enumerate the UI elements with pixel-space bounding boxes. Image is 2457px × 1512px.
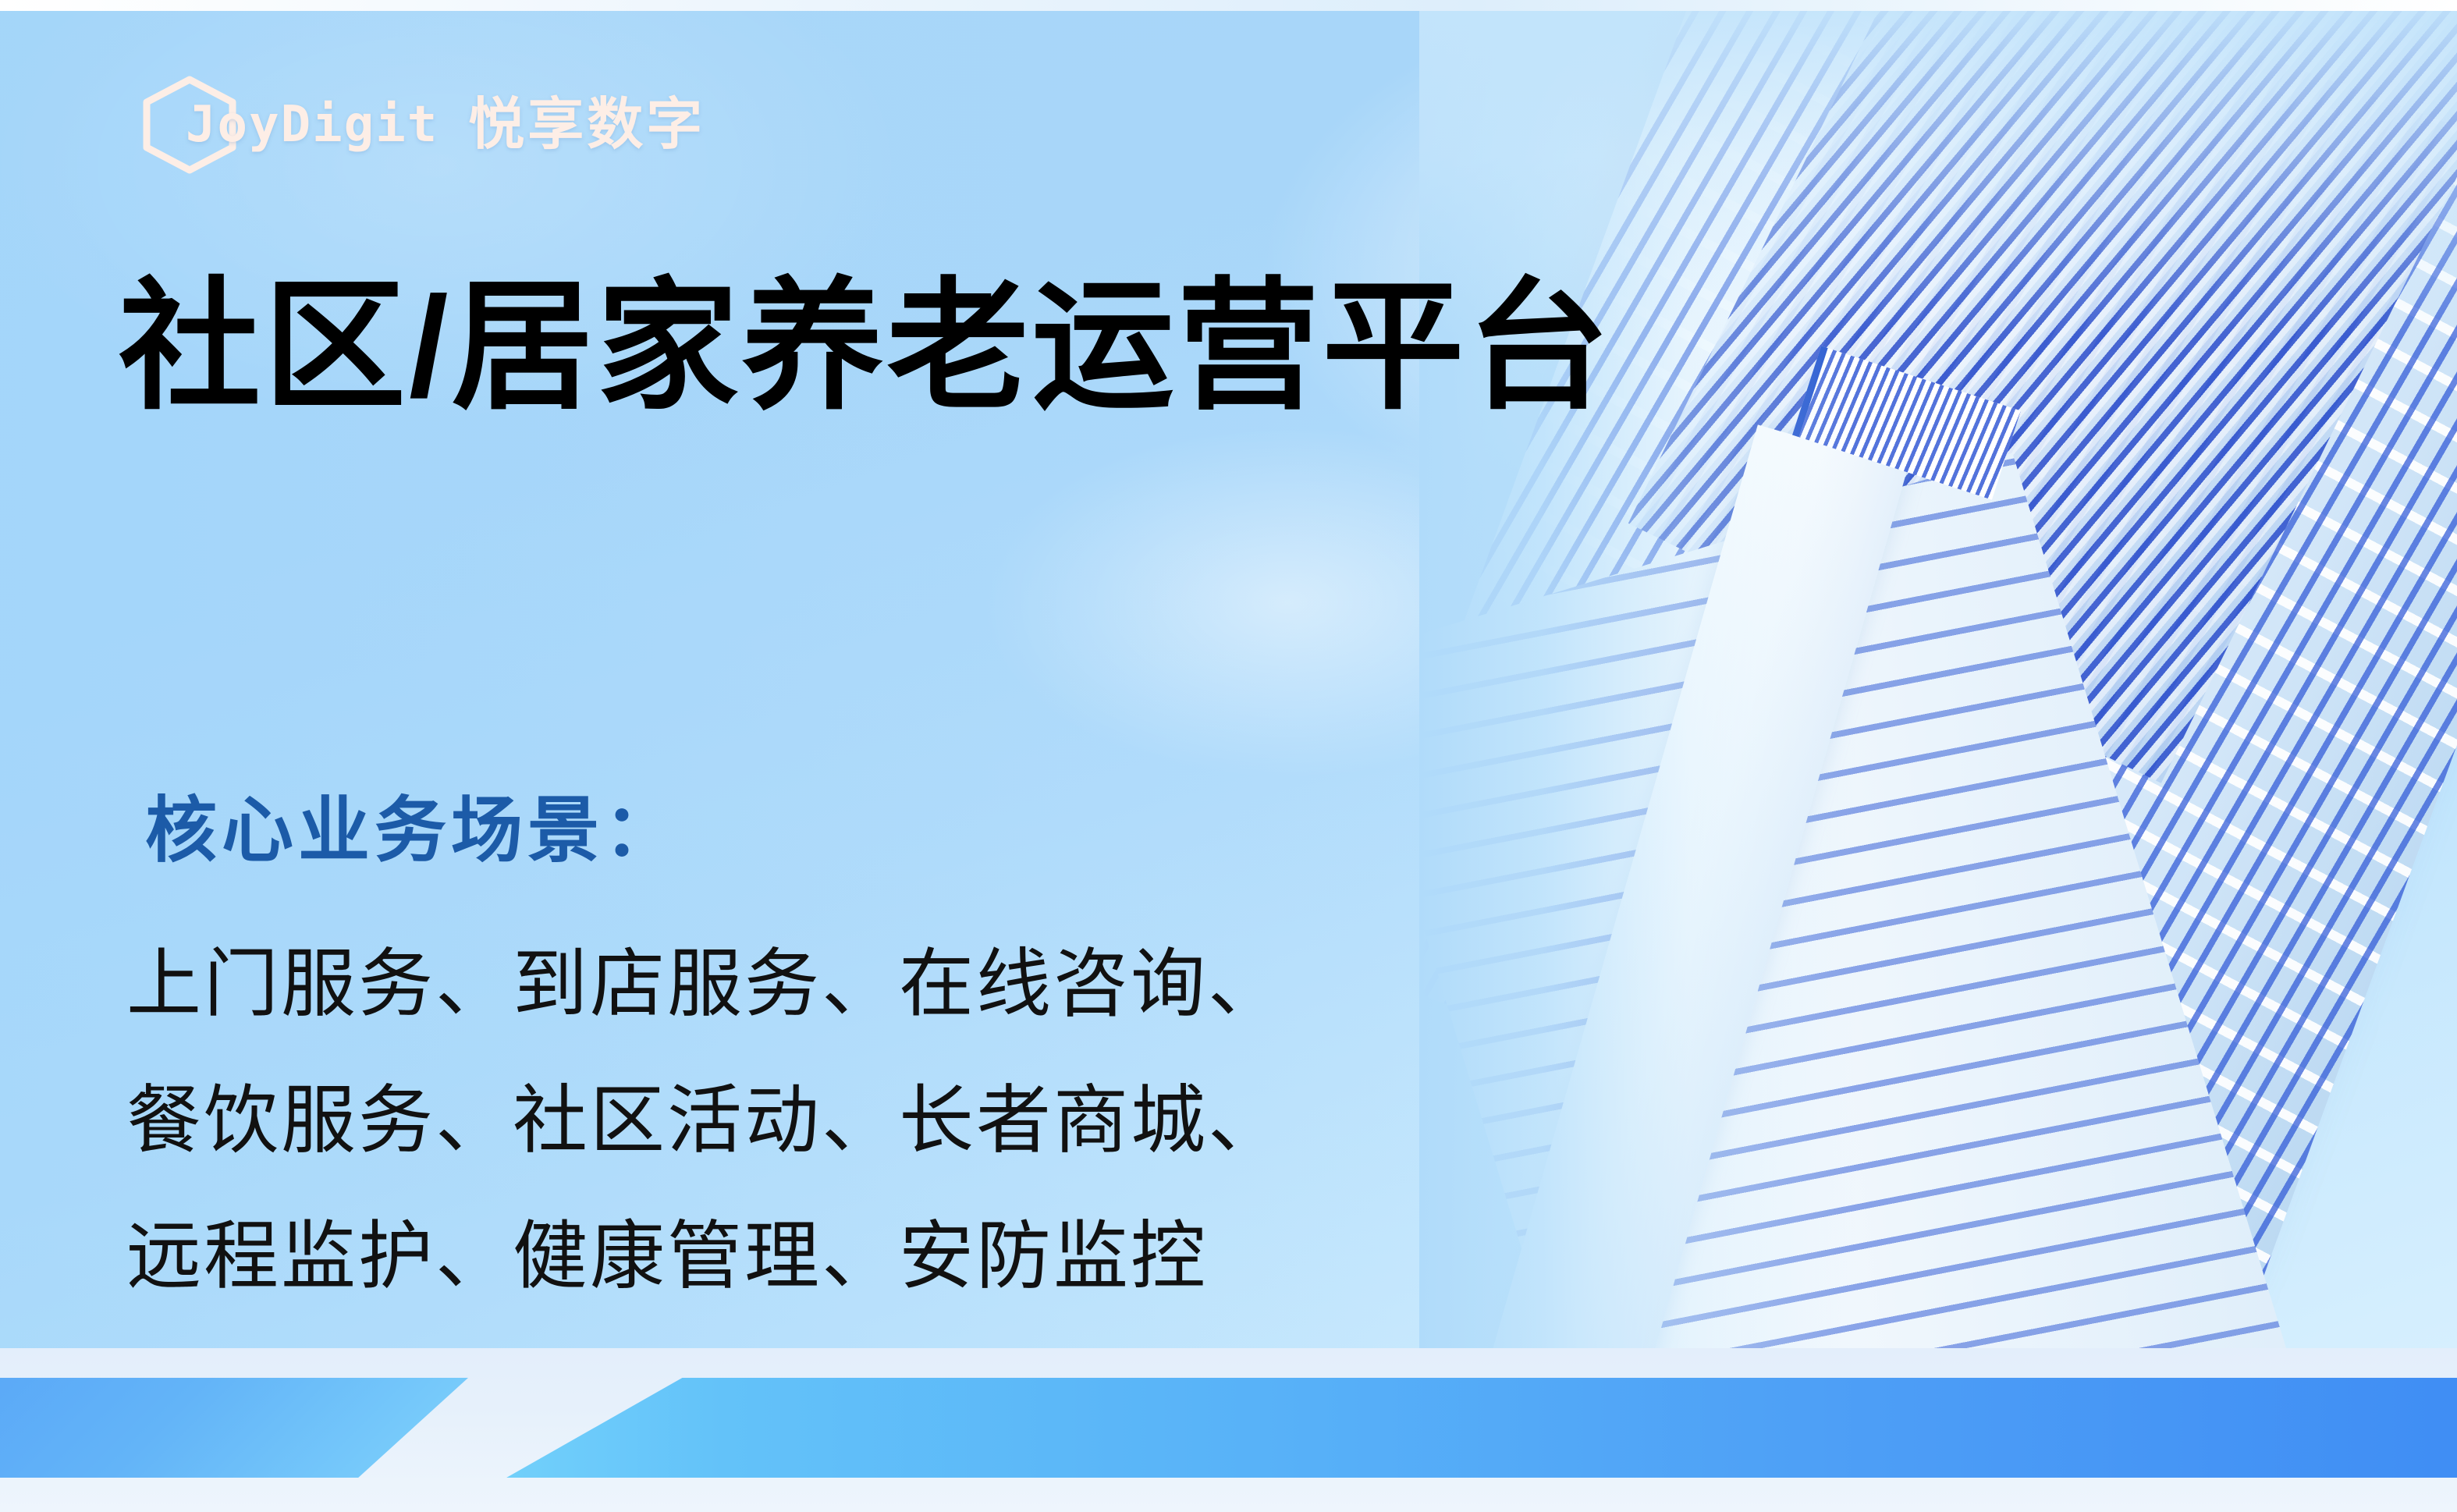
slide-root: JoyDigit 悦享数字 社区/居家养老运营平台 核心业务场景： 上门服务、到… xyxy=(0,0,2457,1512)
footer-bar-left xyxy=(0,1378,468,1478)
skyscraper-photo xyxy=(1419,9,2457,1414)
brand-logo: JoyDigit 悦享数字 xyxy=(139,75,771,175)
scenario-line: 远程监护、健康管理、安防监控 xyxy=(126,1189,1285,1326)
top-white-strip xyxy=(0,0,2457,11)
scenario-list: 上门服务、到店服务、在线咨询、 餐饮服务、社区活动、长者商城、 远程监护、健康管… xyxy=(126,917,1285,1326)
footer-decoration xyxy=(0,1348,2457,1512)
page-title: 社区/居家养老运营平台 xyxy=(119,272,1613,422)
logo-chinese-text: 悦享数字 xyxy=(468,97,705,153)
scenario-line: 餐饮服务、社区活动、长者商城、 xyxy=(126,1053,1285,1190)
footer-bar-right xyxy=(437,1378,2457,1478)
scenario-line: 上门服务、到店服务、在线咨询、 xyxy=(126,917,1285,1053)
section-heading: 核心业务场景： xyxy=(145,772,680,876)
logo-latin-text: JoyDigit xyxy=(186,100,438,150)
